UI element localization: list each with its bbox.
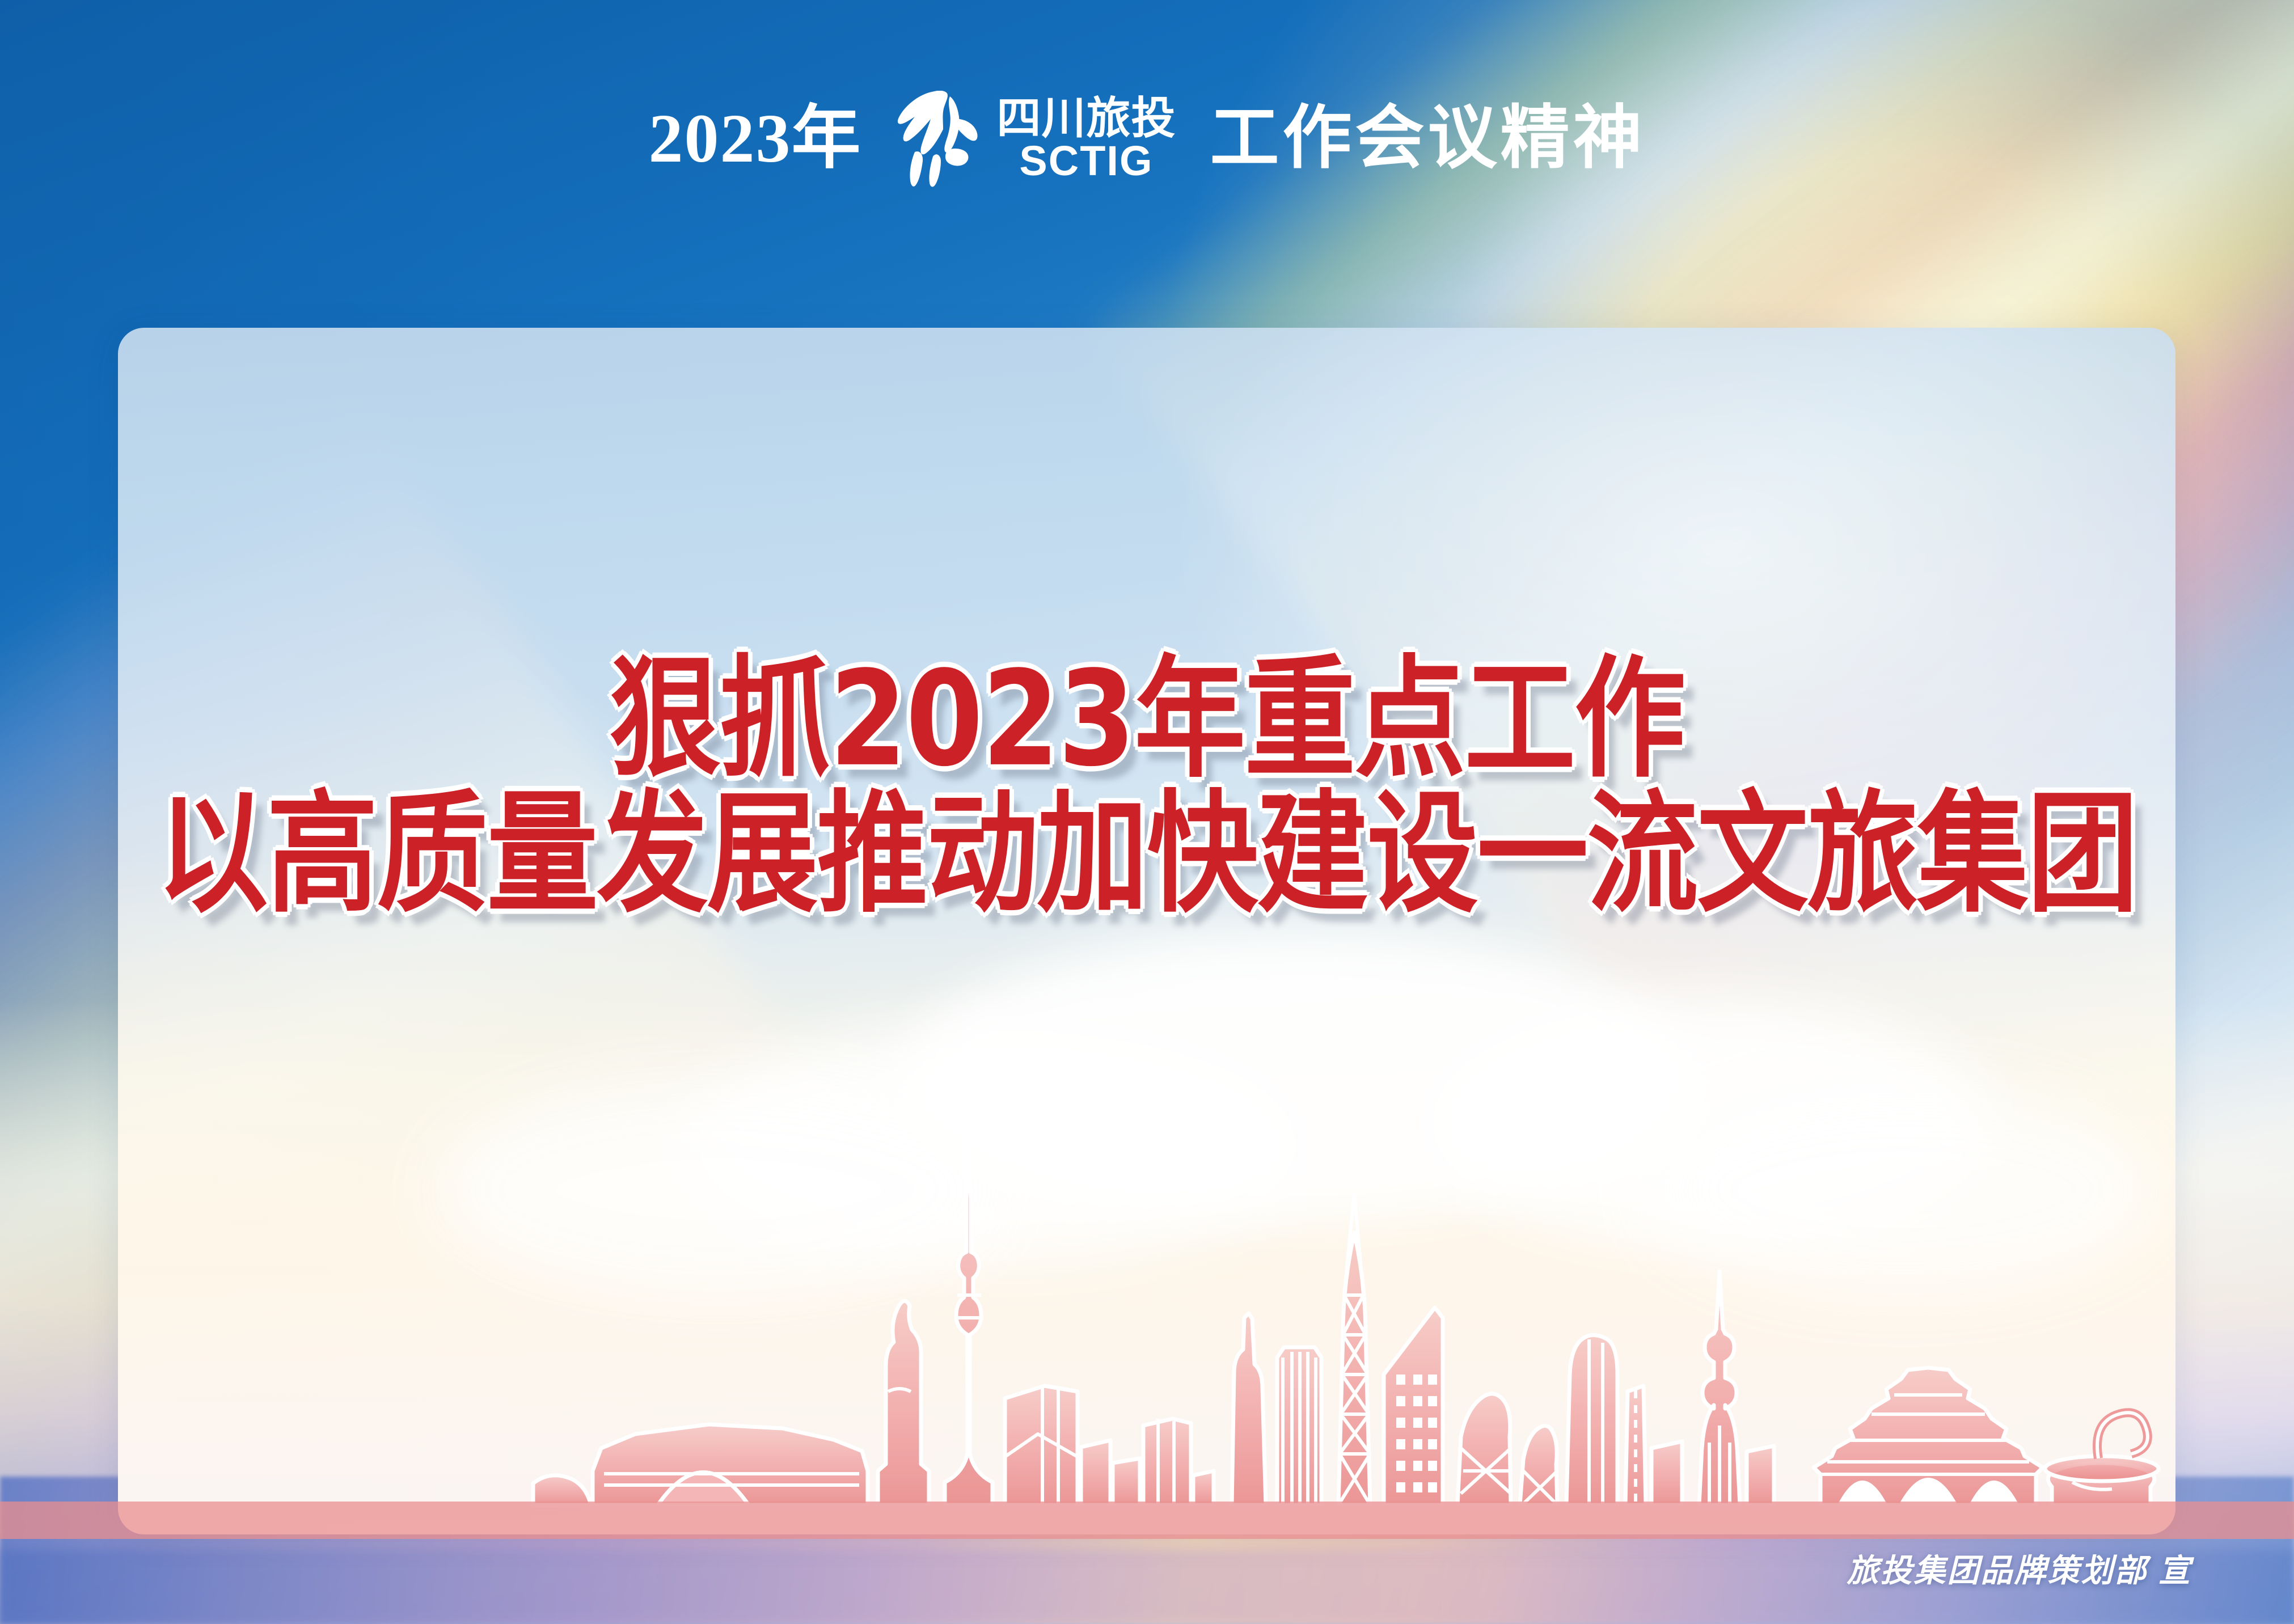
header-subject-label: 工作会议精神 — [1210, 104, 1646, 174]
logo-english-abbr: SCTIG — [1019, 141, 1153, 181]
content-card — [118, 328, 2175, 1534]
sctig-logo[interactable]: 四川旅投 SCTIG — [895, 91, 1176, 187]
cloud-decoration — [1649, 1088, 2160, 1292]
header-year-label: 2023年 — [648, 104, 861, 174]
sctig-panda-logo-icon — [895, 91, 982, 187]
page-title-line-1: 狠抓2023年重点工作 — [610, 653, 1685, 787]
footer-credit: 旅投集团品牌策划部 宣 — [1847, 1545, 2192, 1591]
header-banner: 2023年 四川旅投 SCTIG 工作会议精神 — [0, 85, 2294, 193]
logo-chinese-name: 四川旅投 — [996, 97, 1176, 139]
cloud-decoration — [436, 1082, 1003, 1297]
poster-title-block: 狠抓2023年重点工作 以高质量发展推动加快建设一流文旅集团 — [0, 663, 2294, 912]
sctig-logo-wordmark: 四川旅投 SCTIG — [996, 97, 1176, 181]
poster-canvas: 2023年 四川旅投 SCTIG 工作会议精神 — [0, 0, 2294, 1624]
page-title-line-2: 以高质量发展推动加快建设一流文旅集团 — [157, 788, 2137, 922]
